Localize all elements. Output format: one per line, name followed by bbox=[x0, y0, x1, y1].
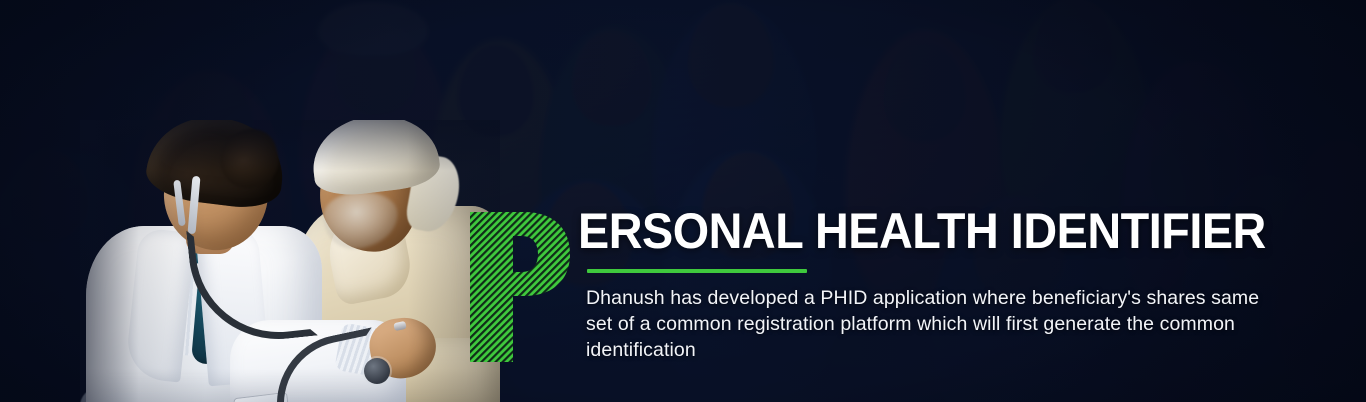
drop-cap-letter-p bbox=[462, 196, 574, 372]
green-divider-rule bbox=[587, 269, 807, 273]
stethoscope-chestpiece bbox=[364, 358, 390, 384]
banner-headline: ERSONAL HEALTH IDENTIFIER bbox=[578, 206, 1270, 256]
banner-text-block: ERSONAL HEALTH IDENTIFIER Dhanush has de… bbox=[578, 206, 1318, 363]
doctor-patient-photo bbox=[80, 120, 500, 402]
banner-body-text: Dhanush has developed a PHID application… bbox=[586, 285, 1286, 363]
hero-banner: ERSONAL HEALTH IDENTIFIER Dhanush has de… bbox=[0, 0, 1366, 402]
